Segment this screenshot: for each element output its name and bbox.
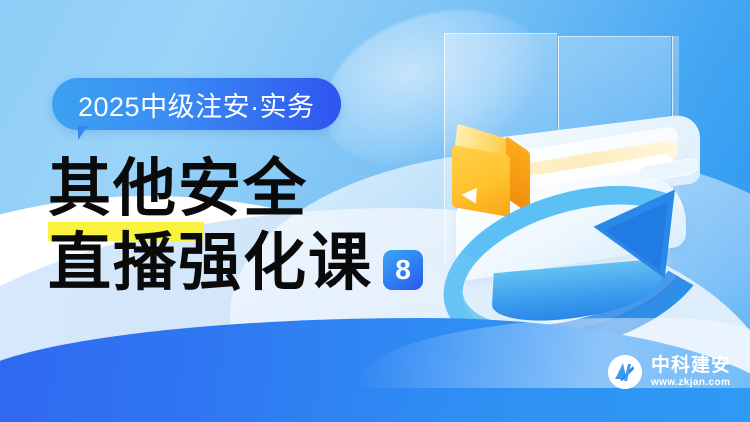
headline-line-2: 直播强化课 (48, 226, 373, 300)
badge-tail-pointer (78, 126, 95, 140)
course-category-badge: 2025中级注安·实务 (52, 78, 341, 130)
brand-name: 中科建安 (651, 355, 731, 376)
course-category-badge-label: 2025中级注安·实务 (78, 85, 315, 124)
brand-logo: 中科建安 www.zkjan.com (608, 355, 731, 389)
curved-arrow-illustration (440, 182, 740, 342)
headline-line-1: 其他安全 (48, 152, 423, 226)
brand-url: www.zkjan.com (651, 376, 731, 389)
headline-line-2-row: 直播强化课 8 (48, 226, 423, 300)
course-promo-banner: 2025中级注安·实务 其他安全 直播强化课 8 中科建安 www.zkjan.… (0, 0, 750, 422)
headline-block: 其他安全 直播强化课 8 (48, 152, 423, 300)
episode-number-badge: 8 (383, 250, 423, 290)
brand-logo-mark-icon (608, 355, 642, 389)
brand-logo-text: 中科建安 www.zkjan.com (651, 355, 731, 389)
